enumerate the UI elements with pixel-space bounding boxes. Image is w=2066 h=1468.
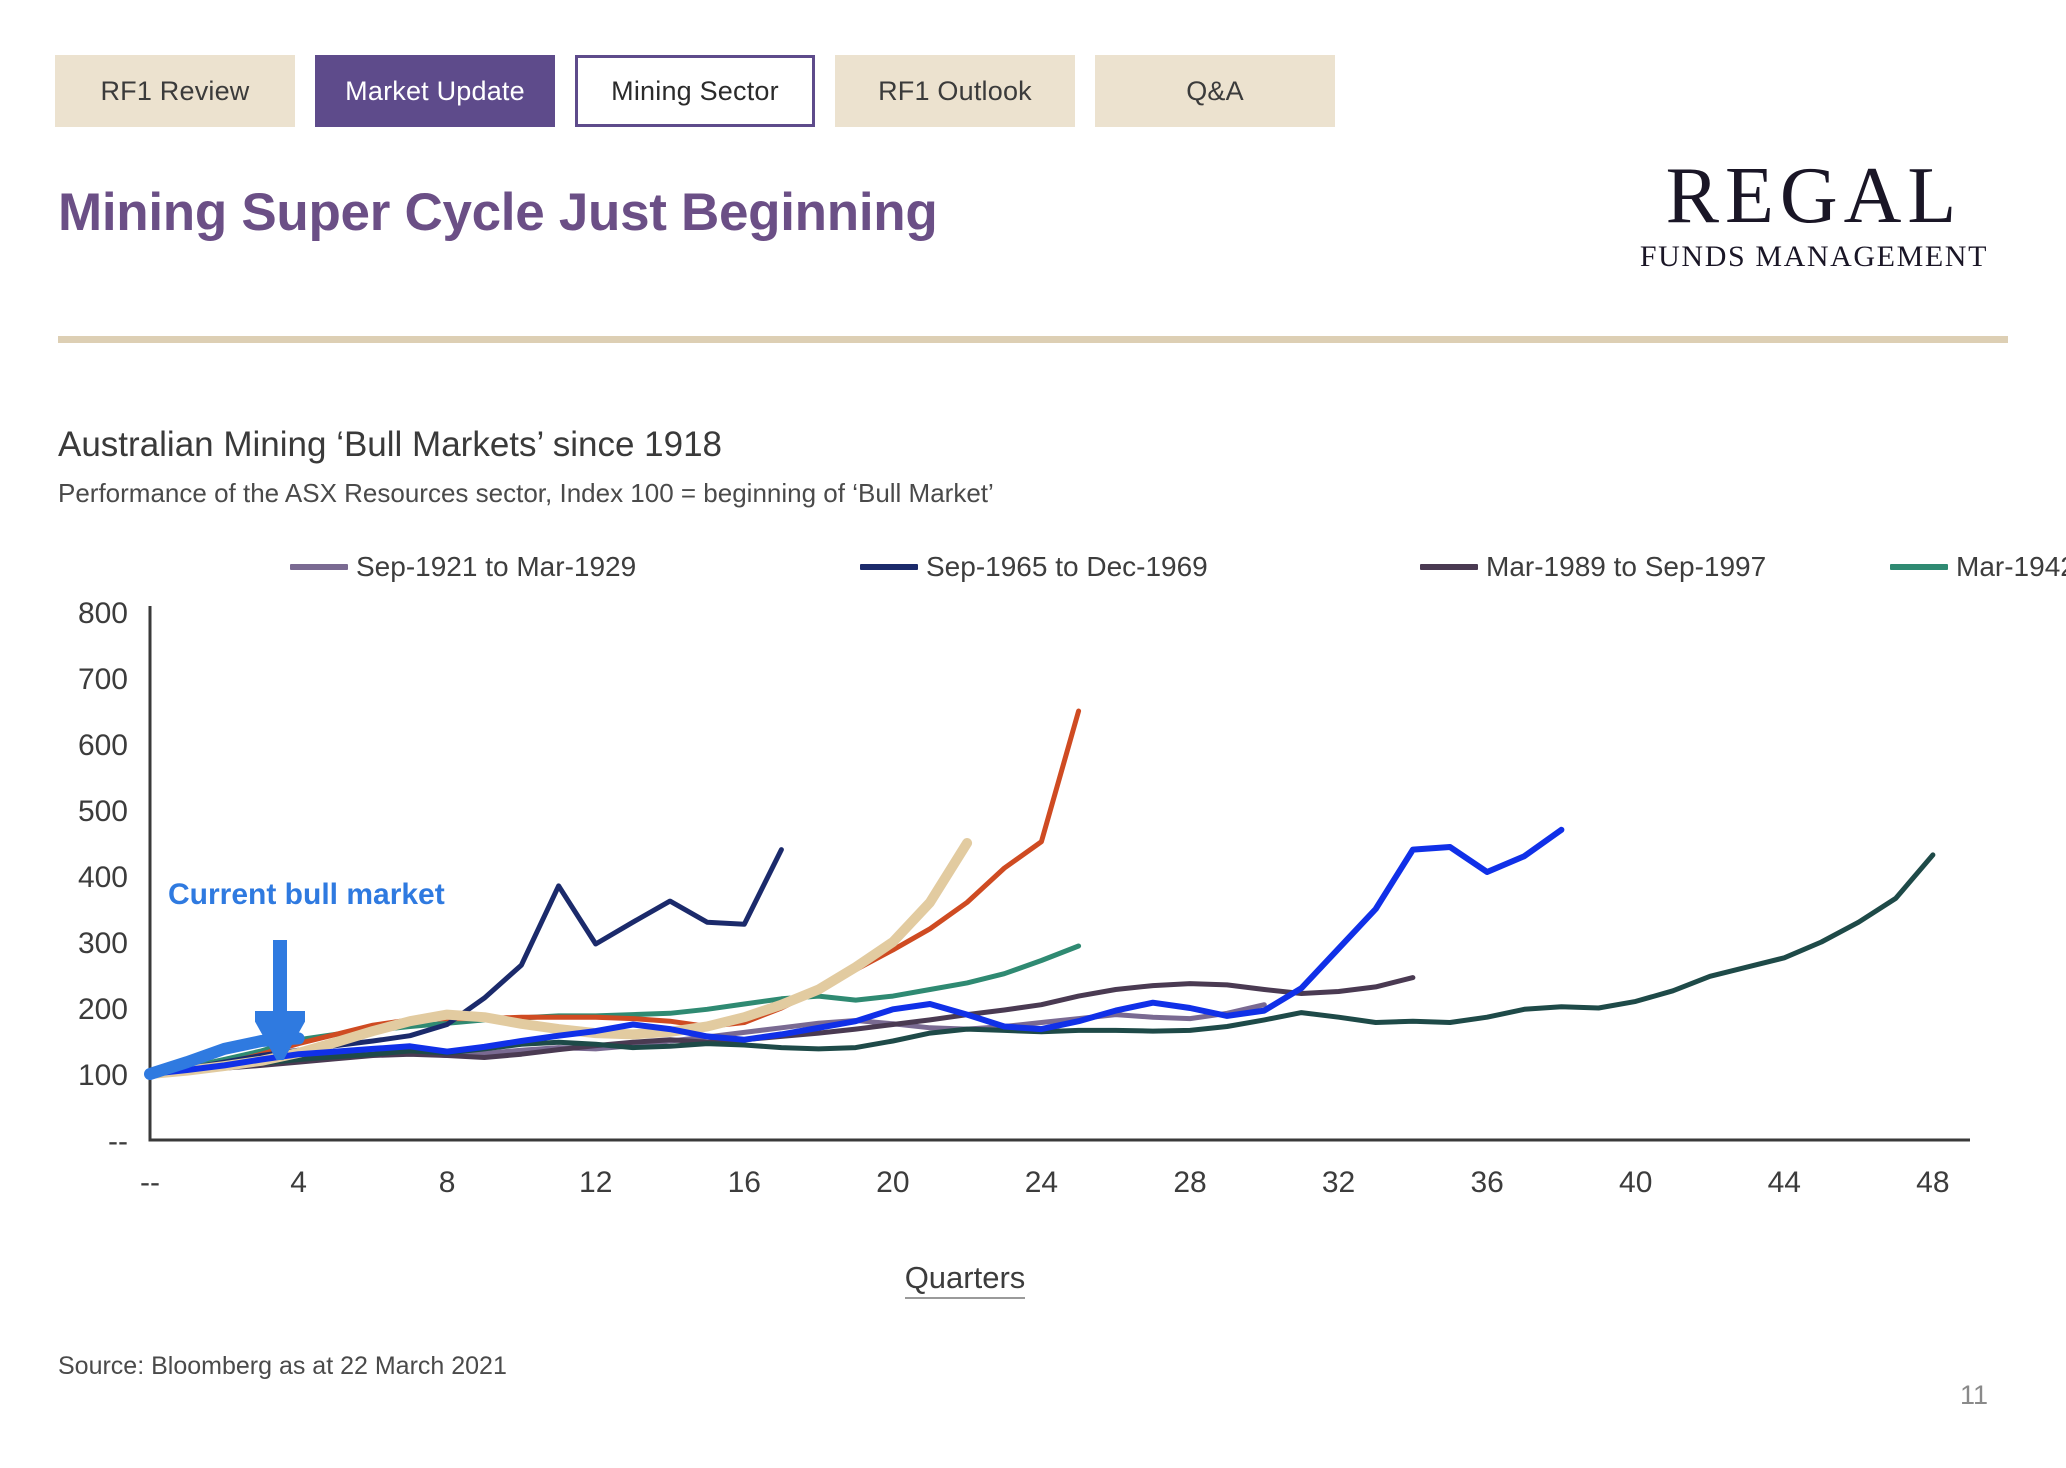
x-tick-label: 40 — [1619, 1166, 1652, 1199]
legend-swatch — [290, 564, 348, 570]
x-tick-label: 24 — [1025, 1166, 1058, 1199]
tab-rf1-outlook[interactable]: RF1 Outlook — [835, 55, 1075, 127]
y-tick-label: 500 — [78, 795, 128, 828]
y-tick-label: 800 — [78, 600, 128, 630]
page-number: 11 — [1960, 1380, 1988, 1411]
legend-label: Mar-1942 to Jun-1948 — [1956, 551, 2066, 583]
y-tick-label: 700 — [78, 663, 128, 696]
tab-bar: RF1 Review Market Update Mining Sector R… — [55, 55, 1335, 127]
legend-label: Mar-1989 to Sep-1997 — [1486, 551, 1766, 583]
header-divider — [58, 336, 2008, 343]
x-tick-label: 16 — [728, 1166, 761, 1199]
legend-swatch — [1890, 564, 1948, 570]
legend-swatch — [860, 564, 918, 570]
x-tick-label: 28 — [1173, 1166, 1206, 1199]
legend-label: Sep-1965 to Dec-1969 — [926, 551, 1208, 583]
x-axis-label: Quarters — [0, 1260, 1930, 1296]
y-tick-label: 200 — [78, 993, 128, 1026]
tab-qa[interactable]: Q&A — [1095, 55, 1335, 127]
regal-logo: REGAL FUNDS MANAGEMENT — [1640, 158, 1988, 274]
legend-item[interactable]: Sep-1921 to Mar-1929 — [290, 548, 860, 586]
source-note: Source: Bloomberg as at 22 March 2021 — [58, 1352, 507, 1381]
legend-item[interactable]: Mar-1942 to Jun-1948 — [1890, 548, 2066, 586]
y-tick-label: 600 — [78, 729, 128, 762]
x-tick-label: 48 — [1916, 1166, 1949, 1199]
current-bull-market-annotation: Current bull market — [168, 878, 445, 912]
x-tick-label: 20 — [876, 1166, 909, 1199]
x-tick-label: 44 — [1768, 1166, 1801, 1199]
legend-swatch — [1420, 564, 1478, 570]
tab-rf1-review[interactable]: RF1 Review — [55, 55, 295, 127]
page-title: Mining Super Cycle Just Beginning — [58, 182, 937, 243]
down-arrow-icon — [255, 940, 305, 1060]
x-tick-label: -- — [140, 1166, 160, 1199]
tab-market-update[interactable]: Market Update — [315, 55, 555, 127]
logo-wordmark: REGAL — [1640, 158, 1988, 234]
y-tick-label: -- — [108, 1125, 128, 1158]
chart-legend: Sep-1921 to Mar-1929Sep-1965 to Dec-1969… — [290, 548, 1890, 586]
y-tick-label: 400 — [78, 861, 128, 894]
logo-tagline: FUNDS MANAGEMENT — [1640, 240, 1988, 274]
x-tick-label: 12 — [579, 1166, 612, 1199]
chart-subtitle: Performance of the ASX Resources sector,… — [58, 478, 994, 509]
x-tick-label: 4 — [290, 1166, 307, 1199]
x-tick-label: 8 — [439, 1166, 456, 1199]
x-tick-label: 32 — [1322, 1166, 1355, 1199]
chart-axes — [150, 606, 1970, 1140]
slide-root: RF1 Review Market Update Mining Sector R… — [0, 0, 2066, 1468]
legend-label: Sep-1921 to Mar-1929 — [356, 551, 636, 583]
tab-mining-sector[interactable]: Mining Sector — [575, 55, 815, 127]
x-tick-label: 36 — [1470, 1166, 1503, 1199]
chart-title: Australian Mining ‘Bull Markets’ since 1… — [58, 425, 722, 465]
y-tick-label: 100 — [78, 1059, 128, 1092]
legend-item[interactable]: Sep-1965 to Dec-1969 — [860, 548, 1420, 586]
y-tick-label: 300 — [78, 927, 128, 960]
legend-item[interactable]: Mar-1989 to Sep-1997 — [1420, 548, 1890, 586]
